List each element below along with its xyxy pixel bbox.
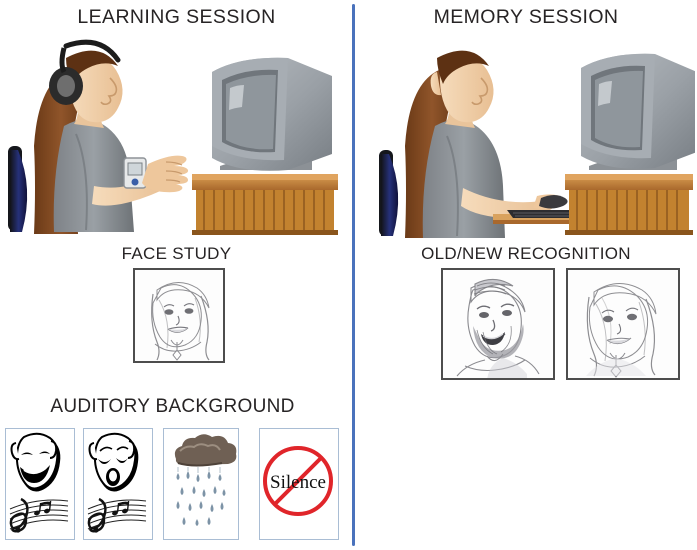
memory-session-panel: MEMORY SESSION [355, 0, 697, 550]
section-title-face-study: FACE STUDY [0, 244, 353, 264]
raindrops-icon [177, 471, 226, 526]
auditory-card-sad-music [83, 428, 153, 540]
learning-session-panel: LEARNING SESSION [0, 0, 353, 550]
auditory-card-rain [163, 428, 239, 540]
desk-icon [192, 174, 338, 235]
note-group [111, 501, 128, 516]
sketch-smiling-blonde-woman [568, 270, 678, 378]
recognition-frame-old-face [566, 268, 680, 380]
learning-session-illustration [6, 38, 346, 238]
silence-label: Silence [270, 472, 326, 493]
torso [423, 119, 505, 238]
face-study-frame [133, 268, 225, 363]
tragedy-mask-icon [90, 434, 139, 492]
desk-icon [565, 174, 693, 235]
memory-session-illustration [365, 38, 695, 238]
comedy-mask-icon [12, 434, 61, 492]
page-title-memory-session: MEMORY SESSION [355, 6, 697, 29]
chair-icon [379, 150, 398, 236]
keyboard-icon [507, 210, 575, 218]
torso [54, 119, 134, 232]
crt-monitor-icon [212, 58, 332, 171]
note-group [33, 501, 50, 516]
chair-icon [8, 146, 27, 232]
crt-monitor-icon [581, 54, 695, 170]
recognition-frame-new-face [441, 268, 555, 380]
auditory-card-happy-music [5, 428, 75, 540]
sketch-smiling-blonde-woman [135, 270, 223, 361]
page-title-learning-session: LEARNING SESSION [0, 6, 353, 29]
section-title-old-new-recognition: OLD/NEW RECOGNITION [355, 244, 697, 264]
sketch-bearded-man [443, 270, 553, 378]
auditory-card-silence: Silence [259, 428, 339, 540]
section-title-auditory-background: AUDITORY BACKGROUND [0, 396, 345, 418]
rain-cloud-icon [175, 434, 236, 465]
